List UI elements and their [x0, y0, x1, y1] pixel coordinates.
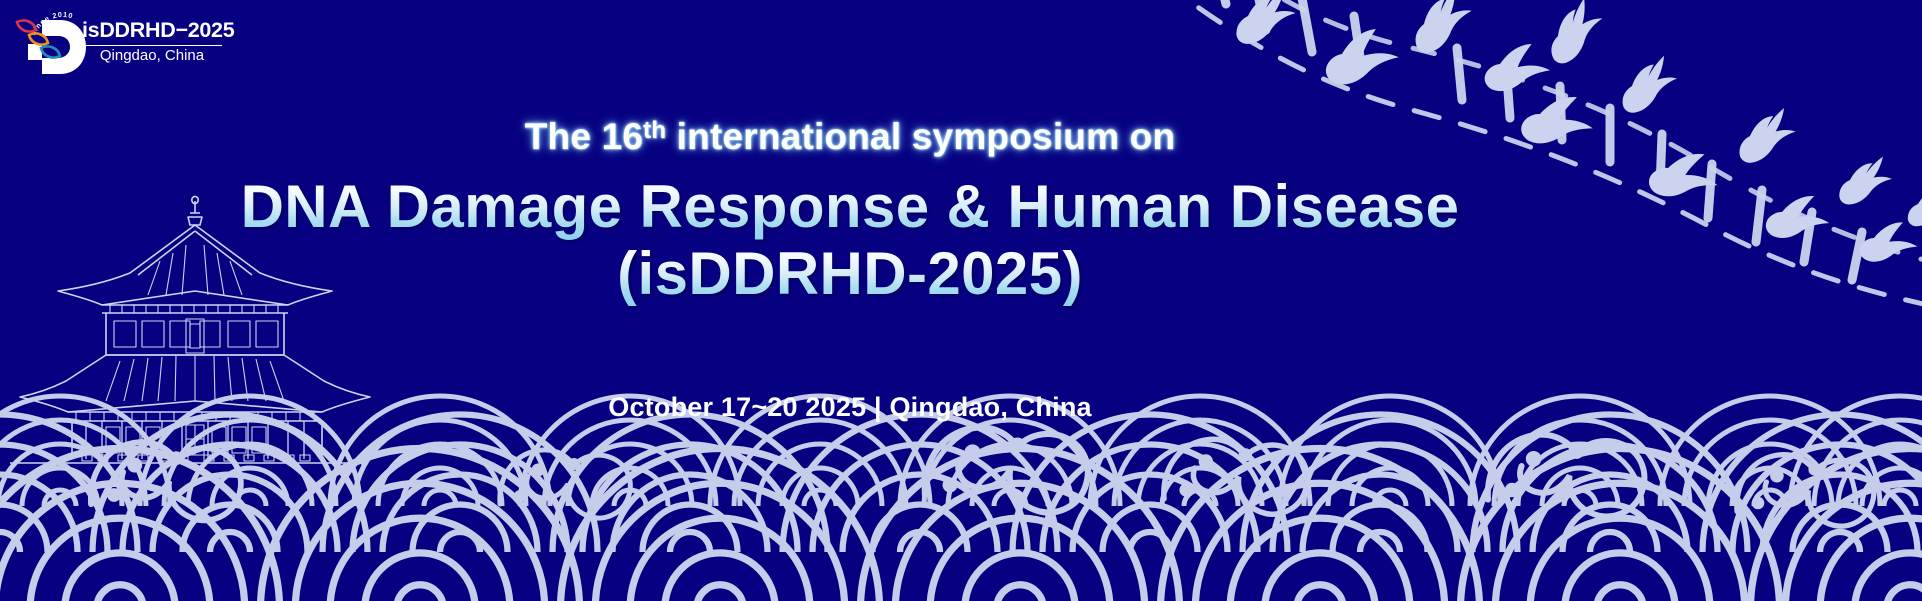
date-and-location: October 17~20 2025 | Qingdao, China: [0, 392, 1700, 423]
logo-subtitle: Qingdao, China: [82, 48, 222, 65]
logo-divider: [82, 45, 222, 47]
symposium-title-line-2: (isDDRHD-2025): [0, 242, 1700, 307]
headline-block: The 16th international symposium on DNA …: [0, 118, 1700, 306]
kicker-ordinal-suffix: th: [643, 117, 666, 144]
logo-title: isDDRHD−2025: [82, 20, 282, 42]
kicker-after: international symposium on: [666, 116, 1175, 157]
symposium-title-line-1: DNA Damage Response & Human Disease: [0, 175, 1700, 240]
symposium-kicker: The 16th international symposium on: [0, 118, 1700, 157]
logo-text-block: isDDRHD−2025 Qingdao, China: [82, 20, 282, 65]
isddrhd-d-monogram-icon: since 2010: [12, 4, 90, 82]
conference-logo[interactable]: since 2010 isDDRHD−2025 Qingdao, China: [12, 4, 282, 84]
conference-banner: since 2010 isDDRHD−2025 Qingdao, China T…: [0, 0, 1922, 601]
kicker-before: The 16: [525, 116, 643, 157]
